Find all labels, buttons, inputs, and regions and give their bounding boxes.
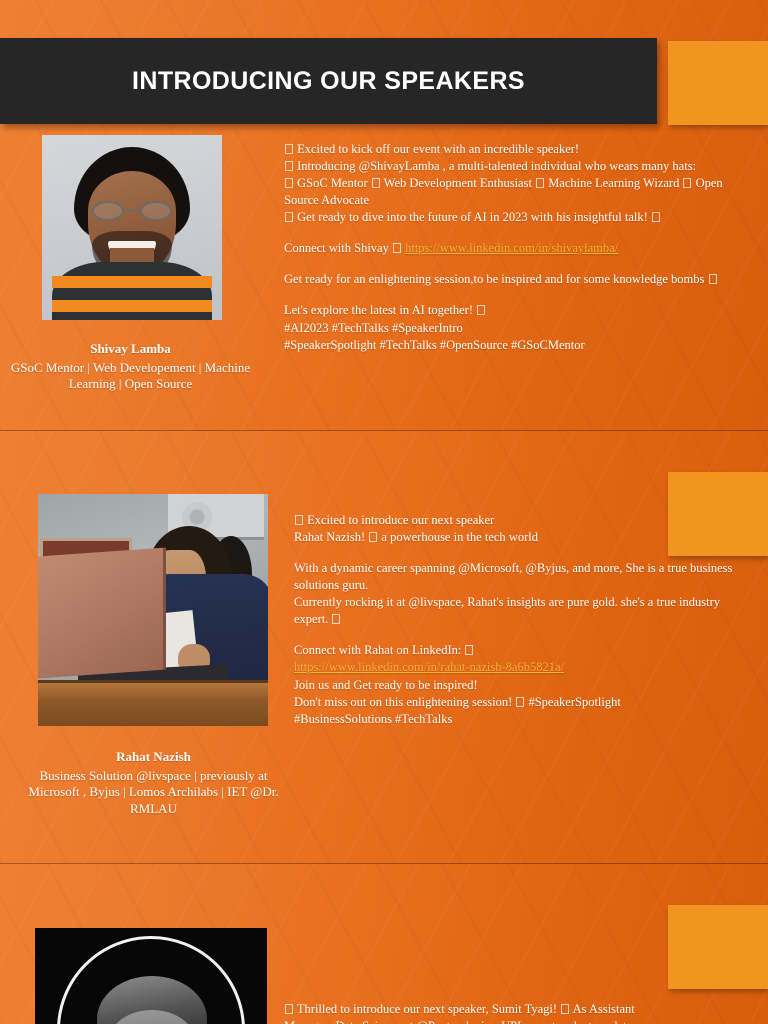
body-text: Excited to kick off our event with an in… [297, 142, 579, 156]
portrait-striped-sweater [52, 262, 212, 320]
body-text: Thrilled to introduce our next speaker, … [297, 1002, 557, 1016]
speaker-role: GSoC Mentor | Web Developement | Machine… [8, 360, 253, 393]
emoji-placeholder-icon [285, 1004, 293, 1014]
body-line: Manager- Data Science at @Paytm, he is a… [284, 1018, 768, 1024]
slide-1-shivay-lamba: INTRODUCING OUR SPEAKERS Shivay Lamba GS… [0, 0, 768, 431]
emoji-placeholder-icon [295, 515, 303, 525]
body-text: Get ready for an enlightening session,to… [284, 272, 704, 286]
emoji-placeholder-icon [393, 243, 401, 253]
speaker-photo-sumit-tyagi [35, 928, 267, 1024]
glasses-icon [86, 201, 178, 221]
emoji-placeholder-icon [683, 178, 691, 188]
body-line: Don't miss out on this enlightening sess… [294, 694, 740, 711]
body-text: Get ready to dive into the future of AI … [297, 210, 648, 224]
decorative-amber-block [668, 41, 768, 125]
body-line: Get ready for an enlightening session,to… [284, 271, 740, 288]
linkedin-link-rahat[interactable]: https://www.linkedin.com/in/rahat-nazish… [294, 660, 564, 674]
speaker-name: Shivay Lamba [8, 341, 253, 358]
linkedin-link-shivay[interactable]: https://www.linkedin.com/in/shivaylamba/ [405, 241, 618, 255]
body-text: Currently rocking it at @livspace, Rahat… [294, 595, 720, 626]
decorative-amber-block [668, 905, 768, 989]
emoji-placeholder-icon [536, 178, 544, 188]
body-text: Web Development Enthusiast [384, 176, 532, 190]
emoji-placeholder-icon [285, 144, 293, 154]
photo-podium [38, 680, 268, 726]
connect-line: Connect with Shivay https://www.linkedin… [284, 240, 740, 257]
body-text: Machine Learning Wizard [548, 176, 679, 190]
body-text: a powerhouse in the tech world [381, 530, 538, 544]
body-line: Join us and Get ready to be inspired! [294, 677, 740, 694]
connect-label: Connect with Rahat on LinkedIn: [294, 643, 461, 657]
body-text: GSoC Mentor [297, 176, 368, 190]
speaker-name: Rahat Nazish [20, 749, 287, 766]
connect-line: Connect with Rahat on LinkedIn: [294, 642, 740, 659]
body-text: Don't miss out on this enlightening sess… [294, 695, 512, 709]
slide-title-bar: INTRODUCING OUR SPEAKERS [0, 38, 657, 124]
speaker-description-sumit-tyagi: Thrilled to introduce our next speaker, … [284, 1001, 768, 1024]
emoji-placeholder-icon [477, 305, 485, 315]
emoji-placeholder-icon [465, 645, 473, 655]
body-line: GSoC Mentor Web Development Enthusiast M… [284, 175, 740, 209]
body-line: Thrilled to introduce our next speaker, … [284, 1001, 768, 1018]
body-line: Let's explore the latest in AI together! [284, 302, 740, 319]
body-text: Let's explore the latest in AI together! [284, 303, 473, 317]
decorative-amber-block [668, 472, 768, 556]
body-text: Introducing @ShivayLamba , a multi-talen… [297, 159, 696, 173]
photo-laptop [38, 548, 166, 679]
link-line: https://www.linkedin.com/in/rahat-nazish… [294, 659, 740, 676]
emoji-placeholder-icon [709, 274, 717, 284]
body-text: As Assistant [573, 1002, 635, 1016]
speaker-photo-rahat-nazish [38, 494, 268, 726]
body-text: Excited to introduce our next speaker [307, 513, 494, 527]
body-line: Introducing @ShivayLamba , a multi-talen… [284, 158, 740, 175]
emoji-placeholder-icon [332, 614, 340, 624]
slide-2-rahat-nazish: Rahat Nazish Business Solution @livspace… [0, 431, 768, 864]
emoji-placeholder-icon [652, 212, 660, 222]
speaker-photo-shivay-lamba [42, 135, 222, 320]
page-title: INTRODUCING OUR SPEAKERS [132, 67, 525, 96]
emoji-placeholder-icon [516, 697, 524, 707]
body-line: Get ready to dive into the future of AI … [284, 209, 740, 226]
body-line: Currently rocking it at @livspace, Rahat… [294, 594, 740, 628]
emoji-placeholder-icon [372, 178, 380, 188]
speaker-role: Business Solution @livspace | previously… [20, 768, 287, 818]
presentation-deck: INTRODUCING OUR SPEAKERS Shivay Lamba GS… [0, 0, 768, 1024]
emoji-placeholder-icon [285, 161, 293, 171]
emoji-placeholder-icon [369, 532, 377, 542]
hashtag-text: #SpeakerSpotlight [528, 695, 620, 709]
body-line: With a dynamic career spanning @Microsof… [294, 560, 740, 594]
speaker-description-shivay-lamba: Excited to kick off our event with an in… [284, 141, 740, 354]
body-text: Rahat Nazish! [294, 530, 365, 544]
hashtag-line: #BusinessSolutions #TechTalks [294, 711, 740, 728]
emoji-placeholder-icon [561, 1004, 569, 1014]
hashtag-line: #SpeakerSpotlight #TechTalks #OpenSource… [284, 337, 740, 354]
speaker-caption-shivay-lamba: Shivay Lamba GSoC Mentor | Web Developem… [8, 341, 253, 393]
speaker-caption-rahat-nazish: Rahat Nazish Business Solution @livspace… [20, 749, 287, 818]
hashtag-line: #AI2023 #TechTalks #SpeakerIntro [284, 320, 740, 337]
emoji-placeholder-icon [285, 178, 293, 188]
body-line: Excited to kick off our event with an in… [284, 141, 740, 158]
emoji-placeholder-icon [285, 212, 293, 222]
connect-label: Connect with Shivay [284, 241, 389, 255]
slide-3-sumit-tyagi: Thrilled to introduce our next speaker, … [0, 864, 768, 1024]
